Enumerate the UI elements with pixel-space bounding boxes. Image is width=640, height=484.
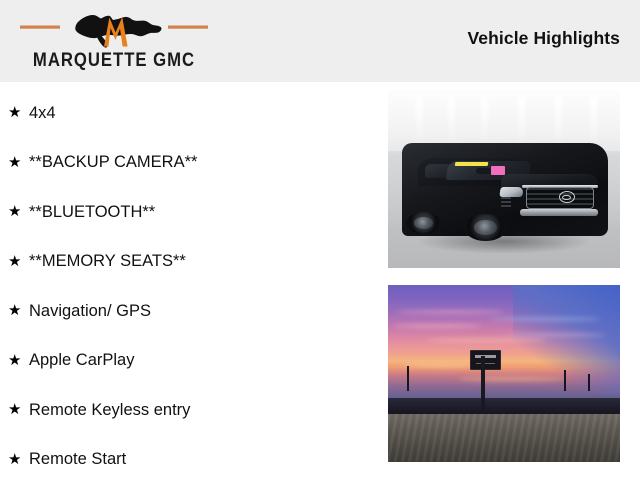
star-icon: ★ [8,254,29,269]
list-item: ★ **BLUETOOTH** [0,187,380,237]
vehicle-photo[interactable] [388,90,620,268]
list-item: ★ Apple CarPlay [0,336,380,386]
vehicle-photo-scene [388,90,620,268]
ceiling-light [481,97,488,143]
feature-label: Remote Start [29,450,126,468]
cloud-streak [458,377,565,381]
feature-label: Navigation/ GPS [29,302,151,320]
star-icon: ★ [8,155,29,170]
list-item: ★ Remote Keyless entry [0,385,380,435]
toyota-emblem-icon [559,191,575,203]
dealer-logo[interactable]: MARQUETTE GMC [14,6,214,78]
star-icon: ★ [8,105,29,120]
cloud-streak [490,317,601,321]
star-icon: ★ [8,303,29,318]
windshield-sticker [454,162,488,166]
dealership-photo-scene [388,285,620,462]
list-item: ★ 4x4 [0,88,380,138]
rear-wheel [406,212,441,234]
list-item: ★ Navigation/ GPS [0,286,380,336]
cloud-streak [397,310,504,314]
front-bumper [520,209,598,216]
cloud-streak [393,324,481,328]
dealership-photo[interactable] [388,285,620,462]
page-title: Vehicle Highlights [467,28,620,49]
feature-label: 4x4 [29,104,56,122]
ceiling-light [590,97,597,143]
truck-body [402,143,608,236]
utility-pole [588,374,590,392]
ceiling-light [448,97,455,143]
star-icon: ★ [8,402,29,417]
treeline [388,398,620,414]
cloud-streak [402,363,481,367]
ceiling-light [518,97,525,143]
page-header: MARQUETTE GMC Vehicle Highlights [0,0,640,82]
feature-label: **BACKUP CAMERA** [29,153,197,171]
hang-tag [491,166,505,175]
feature-label: Apple CarPlay [29,351,134,369]
list-item: ★ **BACKUP CAMERA** [0,138,380,188]
list-item: ★ **MEMORY SEATS** [0,237,380,287]
parking-lot-ground [388,414,620,462]
feature-label: **MEMORY SEATS** [29,252,186,270]
dealership-sign [470,350,500,369]
list-item: ★ Remote Start [0,435,380,484]
vehicle-highlights-list: ★ 4x4 ★ **BACKUP CAMERA** ★ **BLUETOOTH*… [0,88,380,484]
ceiling-light [416,97,423,143]
side-mirror [476,168,490,174]
cloud-streak [504,333,606,337]
star-icon: ★ [8,204,29,219]
star-icon: ★ [8,353,29,368]
feature-label: Remote Keyless entry [29,401,190,419]
star-icon: ★ [8,452,29,467]
upper-peninsula-silhouette-with-m-icon [14,6,214,50]
feature-label: **BLUETOOTH** [29,203,155,221]
headlight [499,187,523,197]
sign-pole [481,356,485,413]
utility-pole [407,366,409,391]
ceiling-light [555,97,562,143]
fog-light-slot [501,197,511,209]
dealer-name-wordmark: MARQUETTE GMC [26,50,202,72]
utility-pole [564,370,566,391]
